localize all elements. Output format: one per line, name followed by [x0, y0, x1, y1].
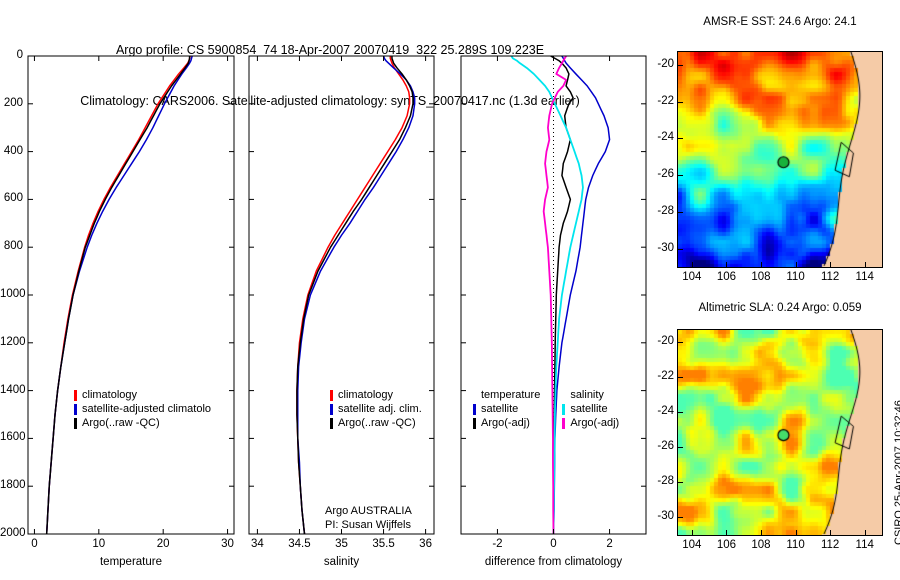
- map-lon-tick: [726, 530, 727, 535]
- depth-tick-label: 1600: [0, 431, 23, 443]
- plot-temperature[interactable]: [27, 55, 235, 535]
- legend-label: satellite: [570, 402, 607, 416]
- attribution: Argo AUSTRALIA PI: Susan Wijffels: [325, 504, 412, 532]
- map-lat-tick-label: -28: [644, 475, 674, 487]
- map-lat-tick: [678, 175, 683, 176]
- series-line: [297, 56, 413, 534]
- x-axis-label-salinity: salinity: [249, 556, 434, 568]
- legend-swatch: [473, 404, 476, 415]
- legend-swatch: [330, 390, 333, 401]
- map-lat-tick: [678, 517, 683, 518]
- legend-label: climatology: [82, 388, 137, 402]
- legend-entry: climatology: [330, 388, 450, 402]
- map-lat-tick: [678, 212, 683, 213]
- x-axis-label-difference: difference from climatology: [461, 556, 646, 568]
- legend-swatch: [74, 418, 77, 429]
- legend-label: climatology: [338, 388, 393, 402]
- series-line: [298, 56, 415, 534]
- series-line: [297, 56, 410, 534]
- legend-label: Argo(-adj): [570, 416, 619, 430]
- map-lat-tick-label: -26: [644, 168, 674, 180]
- map-lat-tick: [678, 102, 683, 103]
- legend-columns: temperaturesatelliteArgo(-adj)salinitysa…: [473, 388, 653, 430]
- map-lat-tick: [678, 138, 683, 139]
- legend-entry: satellite: [473, 402, 540, 416]
- legend-heading: salinity: [562, 388, 619, 402]
- x-tick-label: 0: [532, 538, 576, 550]
- legend-label: satellite-adjusted climatolo: [82, 402, 211, 416]
- depth-tick-label: 1800: [0, 479, 23, 491]
- map-lat-tick-label: -24: [644, 131, 674, 143]
- x-tick-label: 34: [235, 538, 279, 550]
- map-lat-tick-label: -20: [644, 335, 674, 347]
- map-lon-tick: [761, 530, 762, 535]
- legend-column: salinitysatelliteArgo(-adj): [562, 388, 619, 430]
- plot-frame: [28, 56, 234, 534]
- timestamp: CSIRO 25-Apr-2007 10:32:46: [893, 400, 900, 545]
- map-lat-tick-label: -26: [644, 440, 674, 452]
- legend-swatch: [74, 390, 77, 401]
- x-tick-label: 34.5: [277, 538, 321, 550]
- legend-entry: satellite adj. clim.: [330, 402, 450, 416]
- sla-map-title: Altimetric SLA: 0.24 Argo: 0.059: [660, 302, 900, 314]
- legend-entry: Argo(-adj): [562, 416, 619, 430]
- map-lon-tick-label: 114: [845, 271, 885, 283]
- legend-swatch: [74, 404, 77, 415]
- legend-swatch: [562, 418, 565, 429]
- legend-temperature: climatologysatellite-adjusted climatoloA…: [74, 388, 250, 430]
- legend-entry: Argo(..raw -QC): [74, 416, 250, 430]
- depth-tick-label: 1000: [0, 288, 23, 300]
- legend-salinity: climatologysatellite adj. clim.Argo(..ra…: [330, 388, 450, 430]
- map-lat-tick-label: -22: [644, 95, 674, 107]
- map-lat-tick-label: -24: [644, 405, 674, 417]
- map-lat-tick: [678, 447, 683, 448]
- legend-heading: temperature: [473, 388, 540, 402]
- legend-label: satellite adj. clim.: [338, 402, 422, 416]
- sst-map-title: AMSR-E SST: 24.6 Argo: 24.1: [660, 16, 900, 28]
- plot-salinity[interactable]: [248, 55, 435, 535]
- series-line: [47, 56, 191, 534]
- map-lon-tick: [761, 262, 762, 267]
- map-lon-tick: [865, 530, 866, 535]
- legend-difference: temperaturesatelliteArgo(-adj)salinitysa…: [473, 388, 653, 430]
- map-lon-tick: [796, 262, 797, 267]
- sst-map-frame: [677, 51, 883, 268]
- plot-difference[interactable]: [460, 55, 647, 535]
- plot-frame: [249, 56, 434, 534]
- x-tick-label: 35: [320, 538, 364, 550]
- x-axis-label-temperature: temperature: [28, 556, 234, 568]
- depth-tick-label: 600: [0, 192, 23, 204]
- legend-entry: climatology: [74, 388, 250, 402]
- map-lon-tick: [692, 530, 693, 535]
- legend-entry: satellite-adjusted climatolo: [74, 402, 250, 416]
- legend-swatch: [473, 418, 476, 429]
- map-lon-tick: [726, 262, 727, 267]
- map-lon-tick: [830, 262, 831, 267]
- map-lat-tick: [678, 249, 683, 250]
- map-lon-tick-label: 114: [845, 539, 885, 551]
- attribution-line-2: PI: Susan Wijffels: [325, 518, 412, 532]
- map-lat-tick: [678, 342, 683, 343]
- depth-tick-label: 200: [0, 97, 23, 109]
- map-lon-tick: [692, 262, 693, 267]
- map-lon-tick: [796, 530, 797, 535]
- x-tick-label: -2: [475, 538, 519, 550]
- depth-tick-label: 2000: [0, 527, 23, 539]
- depth-tick-label: 1200: [0, 336, 23, 348]
- x-tick-label: 2: [588, 538, 632, 550]
- map-lat-tick-label: -28: [644, 205, 674, 217]
- legend-entry: Argo(-adj): [473, 416, 540, 430]
- legend-entry: satellite: [562, 402, 619, 416]
- map-lon-tick: [830, 530, 831, 535]
- series-line: [47, 56, 192, 534]
- depth-tick-label: 1400: [0, 384, 23, 396]
- x-tick-label: 0: [12, 538, 56, 550]
- legend-swatch: [562, 404, 565, 415]
- series-line: [47, 56, 190, 534]
- depth-tick-label: 0: [0, 49, 23, 61]
- legend-swatch: [330, 418, 333, 429]
- sla-map-frame: [677, 329, 883, 536]
- x-tick-label: 20: [141, 538, 185, 550]
- x-tick-label: 10: [77, 538, 121, 550]
- map-lat-tick: [678, 412, 683, 413]
- legend-label: Argo(..raw -QC): [82, 416, 160, 430]
- map-lat-tick-label: -30: [644, 242, 674, 254]
- depth-tick-label: 800: [0, 240, 23, 252]
- legend-label: Argo(..raw -QC): [338, 416, 416, 430]
- map-lon-tick: [865, 262, 866, 267]
- legend-label: Argo(-adj): [481, 416, 530, 430]
- legend-entry: Argo(..raw -QC): [330, 416, 450, 430]
- depth-tick-label: 400: [0, 145, 23, 157]
- map-lat-tick-label: -20: [644, 58, 674, 70]
- map-lat-tick-label: -22: [644, 370, 674, 382]
- map-lat-tick: [678, 377, 683, 378]
- x-tick-label: 35.5: [362, 538, 406, 550]
- legend-column: temperaturesatelliteArgo(-adj): [473, 388, 540, 430]
- map-lat-tick: [678, 65, 683, 66]
- map-lat-tick-label: -30: [644, 510, 674, 522]
- legend-swatch: [330, 404, 333, 415]
- map-lat-tick: [678, 482, 683, 483]
- legend-label: satellite: [481, 402, 518, 416]
- attribution-line-1: Argo AUSTRALIA: [325, 504, 412, 518]
- x-tick-label: 36: [404, 538, 448, 550]
